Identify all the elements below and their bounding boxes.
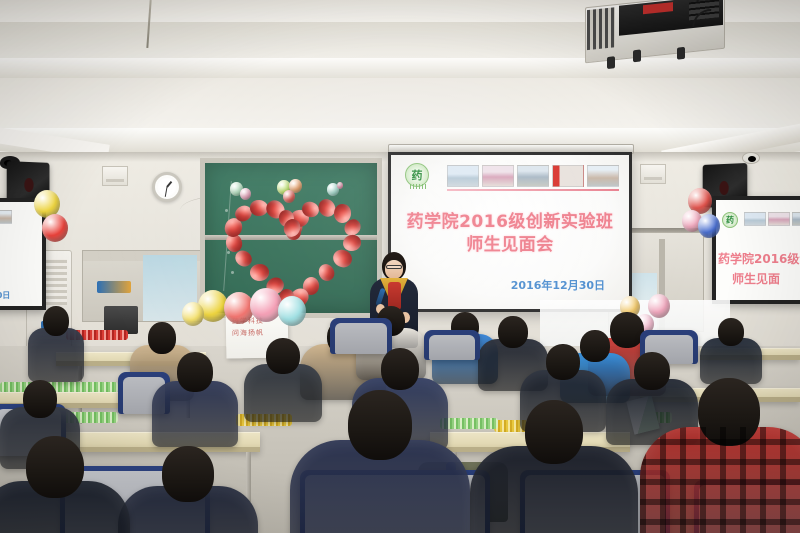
audience-head (348, 390, 412, 460)
slide-photo (0, 210, 12, 224)
classroom-meeting-photo: 药 药学院2016级创新实验班 师生见面会 2016年12月30日 验班 年12… (0, 0, 800, 533)
university-logo-icon: 药 (722, 212, 738, 228)
audience-member (640, 378, 800, 533)
slide-photo (744, 212, 766, 226)
balloon-red (249, 264, 268, 281)
audience-head (26, 436, 84, 498)
slide-photo (517, 165, 549, 187)
slide-date: 2016年12月30日 (511, 277, 605, 293)
audience-member (470, 400, 638, 533)
projector-vent (587, 7, 615, 50)
ceiling-beam (0, 58, 800, 78)
logo-glyph: 药 (412, 167, 423, 183)
university-logo-icon: 药 (405, 163, 429, 187)
wall-clock (152, 172, 182, 202)
audience-member (290, 390, 470, 533)
audience-head (525, 400, 583, 464)
slide-divider (447, 189, 619, 191)
mini-photo-strip (744, 212, 800, 226)
audience-member (28, 306, 84, 390)
slide-title-line2: 师生见面会 (391, 234, 629, 257)
wall-utility-box (640, 164, 666, 184)
logo-ribbon (410, 184, 426, 189)
balloon-red (316, 262, 337, 284)
slide-photo (552, 165, 584, 187)
logo-glyph: 药 (726, 215, 734, 226)
projection-screen: 药 药学院2016级创新实验班 师生见面会 2016年12月30日 (388, 152, 632, 312)
audience-member (152, 352, 238, 458)
slide-photo (792, 212, 800, 226)
projector-mount-foot (607, 56, 615, 69)
audience-head (718, 318, 744, 346)
slide-title-line1: 药学院2016级创新实验班 (391, 211, 629, 234)
presenter-face (385, 260, 403, 279)
audience-head (266, 338, 300, 374)
right-monitor-title-line1: 药学院2016级创 (718, 252, 800, 268)
ceiling-panel (0, 78, 800, 128)
audience-head (23, 380, 57, 418)
wall-utility-box (102, 166, 128, 186)
balloon (250, 288, 282, 322)
audience-head (177, 352, 213, 392)
audience-head (546, 344, 580, 380)
audience-head (43, 306, 69, 336)
door-sign (97, 281, 131, 293)
balloon (42, 214, 68, 242)
audience-head (381, 348, 419, 390)
projector-mount-foot (677, 47, 685, 60)
slide-title: 药学院2016级创新实验班 师生见面会 (391, 211, 629, 257)
balloon-heart (228, 196, 358, 304)
slide-photo (482, 165, 514, 187)
slide-photo (587, 165, 619, 187)
mini-photo-strip (0, 210, 12, 224)
plaid-pattern (640, 427, 800, 533)
slide-photo (447, 165, 479, 187)
right-monitor-title-line2: 师生见面 (732, 272, 780, 288)
right-display-monitor: 药 药学院2016级创 师生见面 (712, 196, 800, 304)
glasses-icon (386, 265, 402, 269)
audience-head (148, 322, 176, 354)
projector-mount-foot (633, 49, 641, 62)
audience-member (0, 436, 130, 533)
balloon (337, 182, 343, 189)
balloon (698, 214, 720, 238)
audience-member (118, 446, 258, 533)
left-monitor-date: 年12月30日 (0, 290, 10, 301)
slide-photo-strip (447, 165, 619, 187)
audience-head (162, 446, 214, 502)
slide-photo (768, 212, 790, 226)
